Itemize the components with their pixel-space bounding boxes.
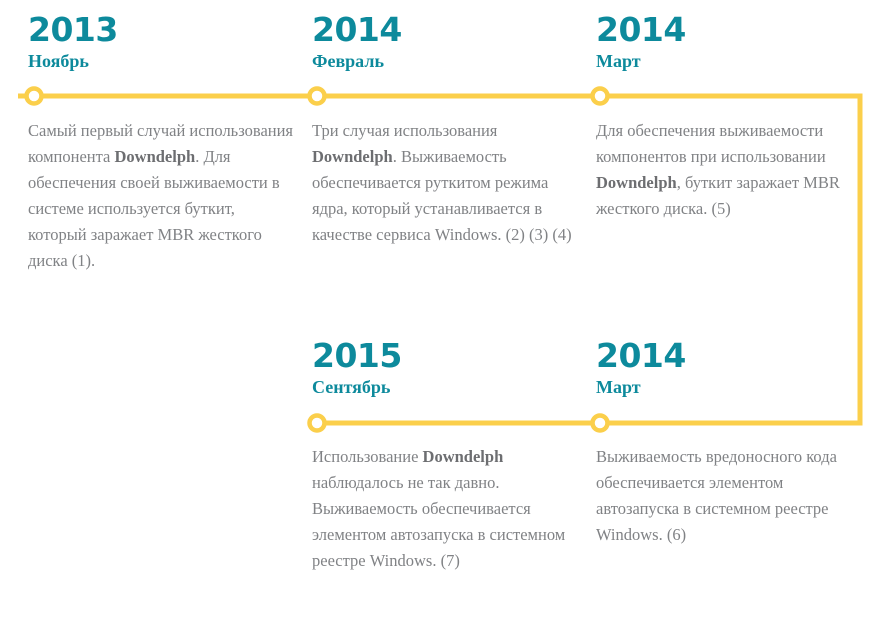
timeline-event-1[interactable]: 2013 Ноябрь Самый первый случай использо… <box>28 0 296 310</box>
timeline-event-5[interactable]: 2014 Март Выживаемость вредоносного кода… <box>596 0 864 624</box>
event-4-year: 2015 <box>312 338 402 373</box>
event-5-month: Март <box>596 376 686 398</box>
event-4-month: Сентябрь <box>312 376 402 398</box>
event-4-heading: 2015 Сентябрь <box>312 338 402 398</box>
timeline-diagram: 2013 Ноябрь Самый первый случай использо… <box>0 0 889 624</box>
event-1-heading: 2013 Ноябрь <box>28 12 118 72</box>
timeline-event-4[interactable]: 2015 Сентябрь Использование Downdelph на… <box>312 0 580 624</box>
event-1-month: Ноябрь <box>28 50 118 72</box>
event-1-year: 2013 <box>28 12 118 47</box>
event-1-description: Самый первый случай использования компон… <box>28 118 296 274</box>
event-5-year: 2014 <box>596 338 686 373</box>
event-5-description: Выживаемость вредоносного кода обеспечив… <box>596 444 858 548</box>
event-5-heading: 2014 Март <box>596 338 686 398</box>
event-4-description: Использование Downdelph наблюдалось не т… <box>312 444 580 574</box>
